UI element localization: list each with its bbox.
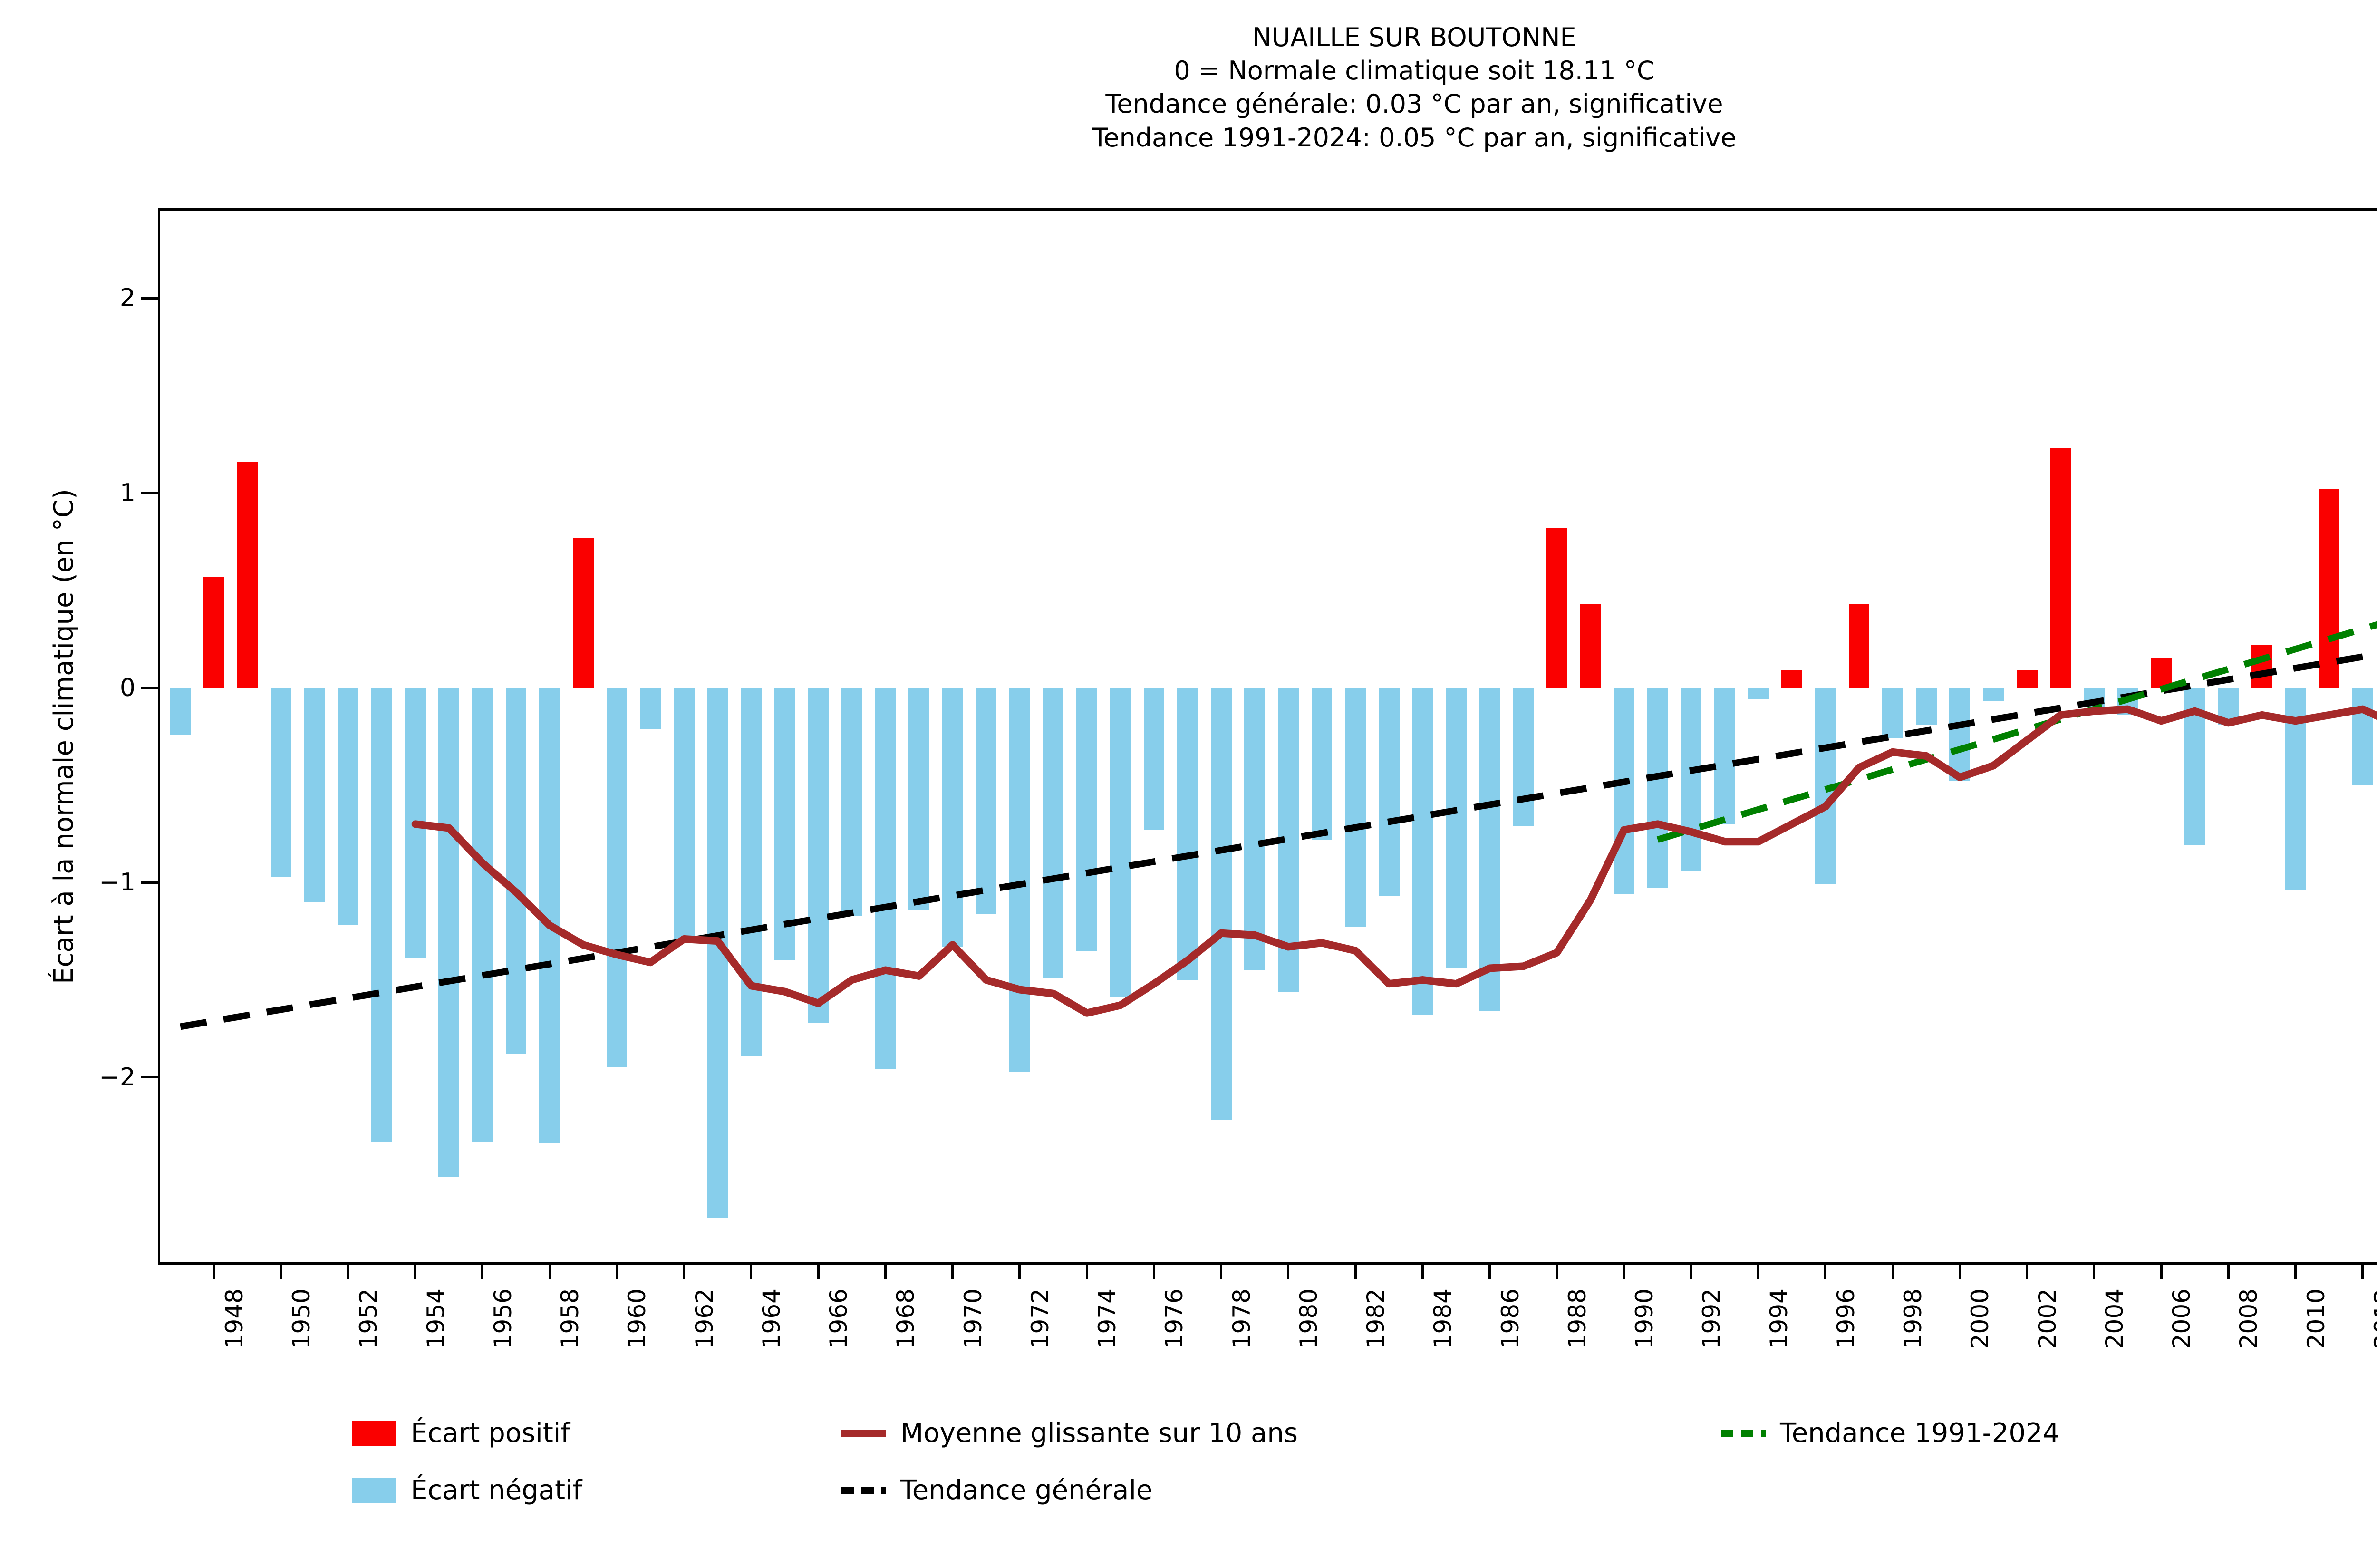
x-tick-label: 1996	[1834, 1288, 1858, 1349]
x-tick-label: 2008	[2237, 1288, 2261, 1349]
overlay-lines	[160, 211, 2377, 1262]
x-tick-label: 2006	[2170, 1288, 2193, 1349]
x-tick-label: 1964	[760, 1288, 783, 1349]
x-tick-mark	[1824, 1262, 1826, 1279]
x-tick-label: 1952	[357, 1288, 380, 1349]
x-tick-label: 1958	[558, 1288, 582, 1349]
x-tick-mark	[1623, 1262, 1625, 1279]
y-axis-label: Écart à la normale climatique (en °C)	[43, 208, 86, 1265]
x-tick-mark	[2160, 1262, 2163, 1279]
y-tick-mark	[141, 1076, 158, 1078]
x-tick-mark	[1086, 1262, 1088, 1279]
x-tick-mark	[213, 1262, 215, 1279]
x-tick-mark	[1488, 1262, 1491, 1279]
chart-legend: Écart positifÉcart négatifMoyenne glissa…	[352, 1414, 2377, 1533]
x-tick-mark	[683, 1262, 685, 1279]
x-tick-label: 1992	[1700, 1288, 1723, 1349]
x-tick-label: 2012	[2371, 1288, 2377, 1349]
x-tick-mark	[750, 1262, 752, 1279]
x-tick-mark	[1153, 1262, 1155, 1279]
x-tick-mark	[481, 1262, 483, 1279]
x-tick-label: 2004	[2103, 1288, 2126, 1349]
x-tick-label: 1990	[1633, 1288, 1656, 1349]
x-tick-mark	[1354, 1262, 1357, 1279]
x-tick-label: 1962	[693, 1288, 716, 1349]
x-tick-label: 1968	[894, 1288, 918, 1349]
x-tick-label: 1978	[1230, 1288, 1254, 1349]
x-tick-mark	[1287, 1262, 1289, 1279]
x-tick-mark	[817, 1262, 820, 1279]
y-tick-label: −1	[31, 870, 135, 895]
y-tick-label: 0	[31, 676, 135, 700]
x-tick-label: 1994	[1767, 1288, 1791, 1349]
y-tick-mark	[141, 881, 158, 884]
x-tick-mark	[414, 1262, 416, 1279]
x-tick-label: 1954	[424, 1288, 448, 1349]
legend-entry[interactable]: Moyenne glissante sur 10 ans	[841, 1414, 1298, 1452]
chart-figure: Écart à la normale climatique (en °C) 21…	[0, 0, 2377, 1568]
x-tick-label: 1984	[1431, 1288, 1455, 1349]
y-tick-label: 1	[31, 481, 135, 505]
y-tick-mark	[141, 297, 158, 300]
y-tick-mark	[141, 492, 158, 494]
x-tick-mark	[1959, 1262, 1961, 1279]
x-tick-label: 1988	[1565, 1288, 1589, 1349]
y-tick-label: 2	[31, 286, 135, 310]
legend-label: Tendance 1991-2024	[1780, 1420, 2059, 1447]
x-tick-label: 1972	[1028, 1288, 1052, 1349]
legend-entry[interactable]: Tendance 1991-2024	[1721, 1414, 2059, 1452]
x-tick-mark	[951, 1262, 954, 1279]
legend-label: Tendance générale	[900, 1477, 1152, 1504]
legend-label: Écart positif	[411, 1420, 570, 1447]
x-tick-mark	[1892, 1262, 1894, 1279]
x-tick-label: 1982	[1364, 1288, 1388, 1349]
legend-swatch-patch-icon	[352, 1421, 396, 1446]
x-tick-mark	[1421, 1262, 1424, 1279]
y-tick-mark	[141, 687, 158, 689]
x-tick-label: 2002	[2036, 1288, 2059, 1349]
x-tick-label: 1998	[1901, 1288, 1925, 1349]
x-tick-mark	[884, 1262, 887, 1279]
x-tick-label: 1948	[222, 1288, 246, 1349]
x-tick-mark	[2026, 1262, 2028, 1279]
x-tick-mark	[2227, 1262, 2230, 1279]
x-tick-label: 2000	[1968, 1288, 1992, 1349]
legend-entry[interactable]: Tendance générale	[841, 1471, 1152, 1510]
x-tick-mark	[549, 1262, 551, 1279]
x-tick-label: 1956	[491, 1288, 515, 1349]
x-tick-mark	[616, 1262, 618, 1279]
legend-label: Moyenne glissante sur 10 ans	[900, 1420, 1298, 1447]
x-tick-label: 1966	[827, 1288, 850, 1349]
legend-swatch-patch-icon	[352, 1478, 396, 1503]
x-tick-mark	[1018, 1262, 1021, 1279]
x-tick-label: 1960	[625, 1288, 649, 1349]
x-tick-label: 1980	[1297, 1288, 1321, 1349]
plot-inner	[160, 211, 2377, 1262]
x-tick-mark	[280, 1262, 282, 1279]
legend-label: Écart négatif	[411, 1477, 582, 1504]
x-tick-mark	[1757, 1262, 1759, 1279]
x-tick-mark	[1220, 1262, 1222, 1279]
x-tick-mark	[1690, 1262, 1692, 1279]
x-tick-label: 1976	[1162, 1288, 1186, 1349]
plot-area	[158, 208, 2377, 1265]
x-tick-mark	[2361, 1262, 2364, 1279]
x-tick-mark	[2294, 1262, 2297, 1279]
x-tick-label: 1974	[1095, 1288, 1119, 1349]
trend-general-line	[180, 589, 2377, 1027]
x-tick-label: 1950	[290, 1288, 313, 1349]
x-tick-label: 1986	[1498, 1288, 1522, 1349]
x-tick-label: 2010	[2304, 1288, 2328, 1349]
x-tick-mark	[1556, 1262, 1558, 1279]
legend-entry[interactable]: Écart positif	[352, 1414, 570, 1452]
x-tick-mark	[347, 1262, 349, 1279]
x-tick-label: 1970	[961, 1288, 985, 1349]
y-tick-label: −2	[31, 1065, 135, 1090]
x-tick-mark	[2093, 1262, 2095, 1279]
legend-entry[interactable]: Écart négatif	[352, 1471, 582, 1510]
